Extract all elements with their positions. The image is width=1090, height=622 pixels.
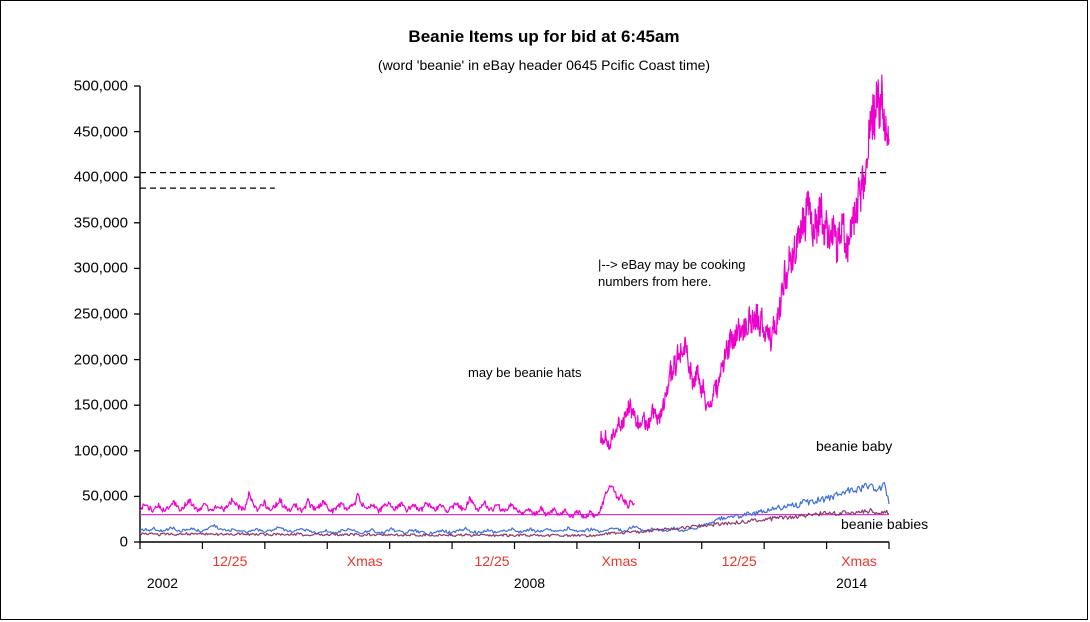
y-axis-tick-label: 150,000: [18, 397, 128, 414]
y-axis-tick-label: 0: [18, 534, 128, 551]
x-axis-year-label: 2002: [122, 575, 202, 591]
x-axis-tick-label: 12/25: [190, 553, 270, 569]
series-line-1: [140, 486, 634, 518]
annotation-hats-note: may be beanie hats: [468, 364, 581, 381]
y-axis-tick-label: 400,000: [18, 169, 128, 186]
x-axis-tick-label: 12/25: [452, 553, 532, 569]
y-axis-tick-label: 100,000: [18, 442, 128, 459]
chart-series: [140, 75, 889, 537]
y-axis-tick-label: 50,000: [18, 488, 128, 505]
series-line-3: [140, 509, 889, 537]
y-axis-tick-label: 300,000: [18, 260, 128, 277]
x-axis-tick-label: Xmas: [325, 553, 405, 569]
x-axis-year-label: 2008: [489, 575, 569, 591]
y-axis-tick-label: 450,000: [18, 123, 128, 140]
x-axis-tick-label: Xmas: [579, 553, 659, 569]
x-axis-tick-label: Xmas: [819, 553, 899, 569]
x-axis-year-label: 2014: [812, 575, 892, 591]
y-axis-tick-label: 500,000: [18, 78, 128, 95]
x-axis-tick-label: 12/25: [699, 553, 779, 569]
annotation-beanie-babies-label: beanie babies: [841, 516, 928, 532]
y-axis-tick-label: 250,000: [18, 306, 128, 323]
y-tick-marks: [134, 86, 140, 542]
annotation-cooking-note: |--> eBay may be cooking numbers from he…: [598, 256, 746, 290]
x-tick-marks: [140, 542, 889, 549]
y-axis-tick-label: 350,000: [18, 214, 128, 231]
y-axis-tick-label: 200,000: [18, 351, 128, 368]
reference-lines: [140, 173, 889, 515]
annotation-beanie-baby-label: beanie baby: [816, 438, 892, 454]
chart-frame: Beanie Items up for bid at 6:45am (word …: [0, 0, 1088, 620]
